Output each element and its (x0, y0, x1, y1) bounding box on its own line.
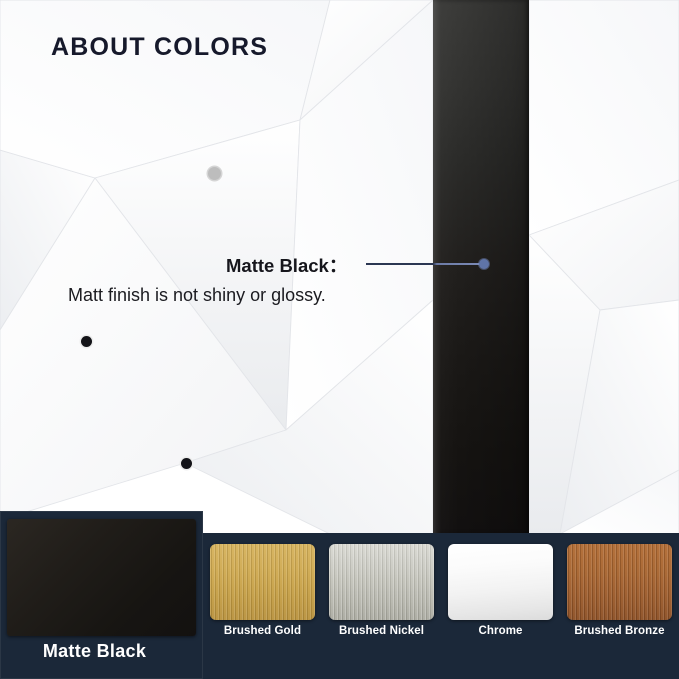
callout-description: Matt finish is not shiny or glossy. (68, 285, 326, 306)
color-option-brushed-bronze[interactable]: Brushed Bronze (560, 533, 679, 645)
color-option-brushed-nickel[interactable]: Brushed Nickel (322, 533, 441, 645)
color-option-list: Brushed Gold Brushed Nickel Chrome Brush… (203, 533, 679, 679)
swatch-label-selected: Matte Black (0, 641, 189, 662)
swatch-brushed-bronze[interactable] (567, 544, 672, 620)
swatch-brushed-gold[interactable] (210, 544, 315, 620)
accent-dot-dark-upper (81, 336, 92, 347)
swatch-chrome[interactable] (448, 544, 553, 620)
color-option-selected[interactable]: Matte Black (0, 511, 203, 679)
leader-line (366, 263, 484, 265)
color-option-brushed-gold[interactable]: Brushed Gold (203, 533, 322, 645)
swatch-matte-black[interactable] (7, 519, 196, 636)
accent-dot-gray (208, 167, 221, 180)
swatch-label-brushed-gold: Brushed Gold (203, 625, 322, 637)
color-option-chrome[interactable]: Chrome (441, 533, 560, 645)
product-color-infographic: ABOUT COLORS Matte Black： Matt finish is… (0, 0, 679, 679)
leader-endpoint-dot (479, 259, 489, 269)
callout-title: Matte Black： (226, 252, 347, 278)
swatch-label-brushed-bronze: Brushed Bronze (560, 625, 679, 637)
page-title: ABOUT COLORS (51, 33, 268, 62)
swatch-label-chrome: Chrome (441, 625, 560, 637)
swatch-label-brushed-nickel: Brushed Nickel (322, 625, 441, 637)
accent-dot-dark-lower (181, 458, 192, 469)
swatch-brushed-nickel[interactable] (329, 544, 434, 620)
